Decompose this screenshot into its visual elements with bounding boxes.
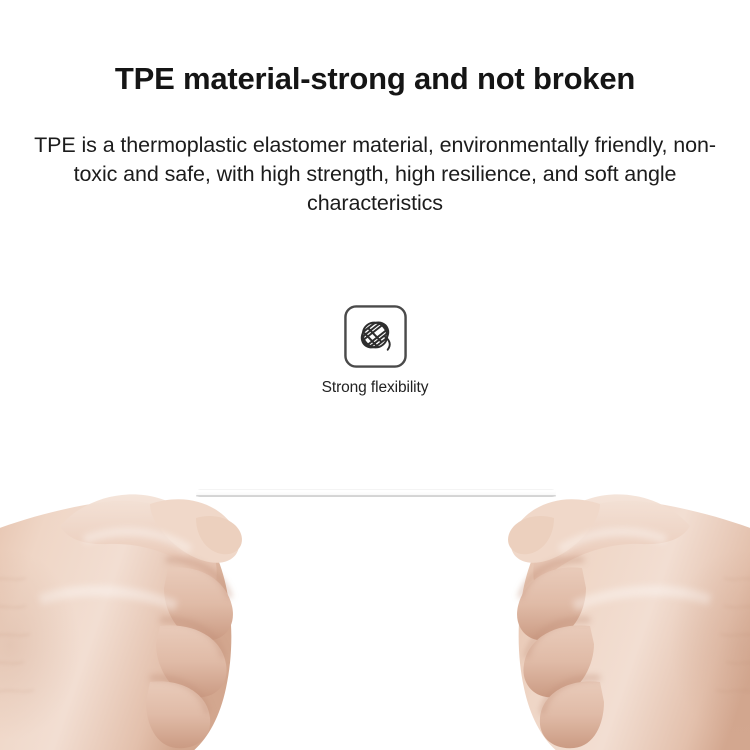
coiled-cable-icon: [343, 304, 408, 369]
left-hand: [0, 494, 242, 750]
feature-caption: Strong flexibility: [322, 379, 429, 397]
page-title: TPE material-strong and not broken: [0, 60, 750, 98]
stretched-cable: [196, 489, 556, 497]
description-text: TPE is a thermoplastic elastomer materia…: [33, 131, 717, 218]
product-feature-banner: TPE material-strong and not broken TPE i…: [0, 0, 750, 750]
product-photo: [0, 430, 750, 750]
right-hand: [508, 494, 750, 750]
feature-badge: Strong flexibility: [0, 304, 750, 397]
